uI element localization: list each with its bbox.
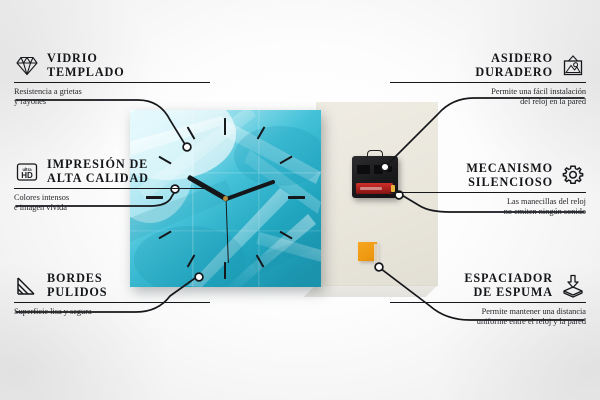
clock-pivot (223, 196, 228, 201)
feature-bordes-pulidos: BORDES PULIDOS Superficie lisa y segura (14, 272, 210, 317)
feature-divider (14, 82, 210, 83)
infographic-canvas: VIDRIO TEMPLADO Resistencia a grietas y … (0, 0, 600, 400)
feature-description: Superficie lisa y segura (14, 307, 210, 318)
feature-description: Resistencia a grietas y rayones (14, 87, 210, 108)
gear-icon (560, 163, 586, 189)
feature-header: ESPACIADOR DE ESPUMA (390, 272, 586, 299)
polished-edges-icon (14, 273, 40, 299)
battery (356, 183, 393, 194)
battery-label (360, 187, 382, 190)
mechanism-slot (357, 165, 370, 174)
feature-impresion-alta-calidad: ultra HD IMPRESIÓN DE ALTA CALIDAD Color… (14, 158, 210, 214)
ultra-hd-large-label: HD (21, 171, 33, 180)
feature-divider (390, 192, 586, 193)
feature-title: ASIDERO DURADERO (475, 52, 553, 79)
feature-mecanismo-silencioso: MECANISMO SILENCIOSO Las manecillas del … (390, 162, 586, 218)
ultra-hd-icon: ultra HD (14, 159, 40, 185)
feature-header: ASIDERO DURADERO (390, 52, 586, 79)
feature-asidero-duradero: ASIDERO DURADERO Permite una fácil insta… (390, 52, 586, 108)
feature-header: VIDRIO TEMPLADO (14, 52, 210, 79)
mechanism-hanger (367, 150, 383, 159)
hanging-frame-icon (560, 53, 586, 79)
feature-header: ultra HD IMPRESIÓN DE ALTA CALIDAD (14, 158, 210, 185)
feature-title: IMPRESIÓN DE ALTA CALIDAD (47, 158, 149, 185)
feature-title: BORDES PULIDOS (47, 272, 107, 299)
feature-description: Colores intensos e imagen vívida (14, 193, 210, 214)
feature-title: ESPACIADOR DE ESPUMA (464, 272, 553, 299)
feature-divider (390, 82, 586, 83)
feature-description: Permite una fácil instalación del reloj … (390, 87, 586, 108)
feature-title: VIDRIO TEMPLADO (47, 52, 125, 79)
feature-espaciador-de-espuma: ESPACIADOR DE ESPUMA Permite mantener un… (390, 272, 586, 328)
feature-description: Las manecillas del reloj no emiten ningú… (390, 197, 586, 218)
feature-vidrio-templado: VIDRIO TEMPLADO Resistencia a grietas y … (14, 52, 210, 108)
feature-divider (390, 302, 586, 303)
mechanism-slot (374, 165, 383, 174)
feature-title: MECANISMO SILENCIOSO (466, 162, 553, 189)
feature-description: Permite mantener una distancia uniforme … (390, 307, 586, 328)
feature-divider (14, 302, 210, 303)
diamond-icon (14, 53, 40, 79)
foam-spacer (358, 242, 377, 261)
feature-header: MECANISMO SILENCIOSO (390, 162, 586, 189)
clock-tick (288, 196, 305, 199)
foam-spacer-icon (560, 273, 586, 299)
feature-divider (14, 188, 210, 189)
feature-header: BORDES PULIDOS (14, 272, 210, 299)
